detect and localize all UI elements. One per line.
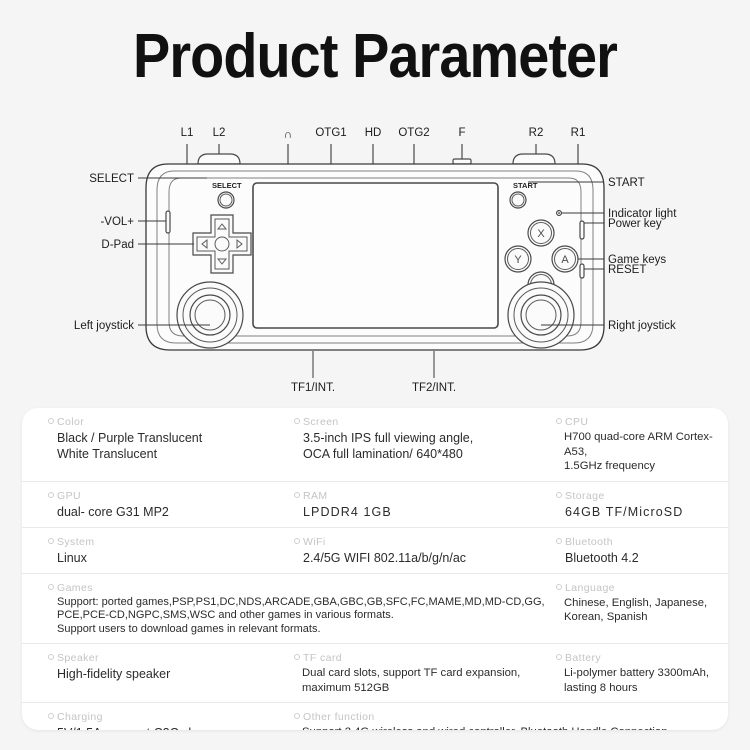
label-l1: L1 bbox=[181, 127, 194, 139]
spec-label: Screen bbox=[294, 415, 552, 430]
spec-cell-speaker: Speaker High-fidelity speaker bbox=[22, 651, 290, 695]
label-right-joystick: Right joystick bbox=[608, 320, 676, 332]
spec-label-text: Other function bbox=[303, 711, 375, 723]
spec-label-text: Screen bbox=[303, 416, 339, 428]
bullet-icon bbox=[556, 492, 562, 498]
spec-value: 5V/1.5A, support C2C charger bbox=[48, 725, 290, 730]
device-button-y: Y bbox=[514, 254, 522, 266]
spec-cell-games: Games Support: ported games,PSP,PS1,DC,N… bbox=[22, 581, 552, 637]
label-volume: -VOL+ bbox=[100, 216, 134, 228]
bullet-icon bbox=[48, 418, 54, 424]
bullet-icon bbox=[294, 713, 300, 719]
bullet-icon bbox=[556, 538, 562, 544]
spec-label: TF card bbox=[294, 651, 552, 666]
spec-cell-wifi: WiFi 2.4/5G WIFI 802.11a/b/g/n/ac bbox=[290, 535, 552, 566]
spec-label: Speaker bbox=[48, 651, 290, 666]
page-title: Product Parameter bbox=[38, 26, 713, 88]
bullet-icon bbox=[48, 492, 54, 498]
bullet-icon bbox=[48, 654, 54, 660]
bullet-icon bbox=[48, 713, 54, 719]
bullet-icon bbox=[48, 584, 54, 590]
spec-cell-charging: Charging 5V/1.5A, support C2C charger bbox=[22, 710, 290, 730]
spec-value: Linux bbox=[48, 550, 290, 566]
spec-cell-cpu: CPU H700 quad-core ARM Cortex-A53, 1.5GH… bbox=[552, 415, 728, 474]
spec-value: LPDDR4 1GB bbox=[294, 504, 552, 520]
table-row: Games Support: ported games,PSP,PS1,DC,N… bbox=[22, 574, 728, 645]
spec-label: Other function bbox=[294, 710, 728, 725]
spec-label: Games bbox=[48, 581, 552, 596]
spec-label: Storage bbox=[556, 489, 728, 504]
spec-cell-color: Color Black / Purple Translucent White T… bbox=[22, 415, 290, 474]
spec-cell-ram: RAM LPDDR4 1GB bbox=[290, 489, 552, 520]
bullet-icon bbox=[294, 654, 300, 660]
bullet-icon bbox=[294, 418, 300, 424]
bullet-icon bbox=[294, 492, 300, 498]
device-button-x: X bbox=[537, 228, 545, 240]
spec-label: CPU bbox=[556, 415, 728, 430]
spec-cell-gpu: GPU dual- core G31 MP2 bbox=[22, 489, 290, 520]
spec-label: Charging bbox=[48, 710, 290, 725]
bullet-icon bbox=[556, 654, 562, 660]
spec-value: 64GB TF/MicroSD bbox=[556, 504, 728, 520]
device-diagram: SELECT START X Y A B L1 bbox=[0, 118, 750, 408]
table-row: System Linux WiFi 2.4/5G WIFI 802.11a/b/… bbox=[22, 528, 728, 574]
bullet-icon bbox=[294, 538, 300, 544]
label-l2: L2 bbox=[213, 127, 226, 139]
spec-value: Chinese, English, Japanese, Korean, Span… bbox=[556, 596, 728, 625]
spec-label-text: Games bbox=[57, 582, 93, 594]
label-r2: R2 bbox=[529, 127, 544, 139]
spec-label-text: Charging bbox=[57, 711, 103, 723]
label-power-key: Power key bbox=[608, 218, 662, 230]
spec-label-text: Language bbox=[565, 582, 615, 594]
spec-label: Battery bbox=[556, 651, 728, 666]
spec-cell-language: Language Chinese, English, Japanese, Kor… bbox=[552, 581, 728, 637]
headphone-jack-icon: ∩ bbox=[284, 129, 292, 141]
label-dpad: D-Pad bbox=[101, 239, 134, 251]
spec-value: Dual card slots, support TF card expansi… bbox=[294, 666, 552, 695]
label-tf1: TF1/INT. bbox=[291, 382, 335, 394]
table-row: Charging 5V/1.5A, support C2C charger Ot… bbox=[22, 703, 728, 730]
table-row: GPU dual- core G31 MP2 RAM LPDDR4 1GB St… bbox=[22, 482, 728, 528]
spec-label-text: Battery bbox=[565, 652, 601, 664]
spec-value: Support 2.4G wireless and wired controll… bbox=[294, 725, 728, 730]
label-reset: RESET bbox=[608, 264, 646, 276]
table-row: Speaker High-fidelity speaker TF card Du… bbox=[22, 644, 728, 703]
spec-label: Bluetooth bbox=[556, 535, 728, 550]
spec-value: High-fidelity speaker bbox=[48, 666, 290, 682]
device-select-marking: SELECT bbox=[212, 181, 242, 190]
label-r1: R1 bbox=[571, 127, 586, 139]
device-button-a: A bbox=[561, 254, 569, 266]
label-start: START bbox=[608, 177, 645, 189]
spec-cell-tf-card: TF card Dual card slots, support TF card… bbox=[290, 651, 552, 695]
spec-cell-storage: Storage 64GB TF/MicroSD bbox=[552, 489, 728, 520]
spec-label-text: Bluetooth bbox=[565, 536, 613, 548]
label-hd: HD bbox=[365, 127, 382, 139]
spec-value: Bluetooth 4.2 bbox=[556, 550, 728, 566]
spec-label-text: WiFi bbox=[303, 536, 326, 548]
spec-cell-screen: Screen 3.5-inch IPS full viewing angle, … bbox=[290, 415, 552, 474]
bullet-icon bbox=[556, 584, 562, 590]
spec-value: H700 quad-core ARM Cortex-A53, 1.5GHz fr… bbox=[556, 430, 728, 474]
spec-value: Li-polymer battery 3300mAh, lasting 8 ho… bbox=[556, 666, 728, 695]
spec-label: Color bbox=[48, 415, 290, 430]
spec-label: Language bbox=[556, 581, 728, 596]
spec-cell-other-function: Other function Support 2.4G wireless and… bbox=[290, 710, 728, 730]
spec-table: Color Black / Purple Translucent White T… bbox=[22, 408, 728, 730]
spec-value: dual- core G31 MP2 bbox=[48, 504, 290, 520]
spec-label-text: Color bbox=[57, 416, 84, 428]
spec-value: 3.5-inch IPS full viewing angle, OCA ful… bbox=[294, 430, 552, 462]
spec-label: WiFi bbox=[294, 535, 552, 550]
spec-label: System bbox=[48, 535, 290, 550]
label-left-joystick: Left joystick bbox=[74, 320, 134, 332]
spec-label: GPU bbox=[48, 489, 290, 504]
bullet-icon bbox=[556, 418, 562, 424]
spec-value: Support: ported games,PSP,PS1,DC,NDS,ARC… bbox=[48, 596, 552, 637]
bullet-icon bbox=[48, 538, 54, 544]
label-select: SELECT bbox=[89, 173, 134, 185]
label-f: F bbox=[458, 127, 465, 139]
label-otg2: OTG2 bbox=[398, 127, 429, 139]
label-otg1: OTG1 bbox=[315, 127, 346, 139]
spec-label-text: CPU bbox=[565, 416, 588, 428]
spec-label: RAM bbox=[294, 489, 552, 504]
spec-label-text: GPU bbox=[57, 490, 81, 502]
spec-cell-battery: Battery Li-polymer battery 3300mAh, last… bbox=[552, 651, 728, 695]
spec-label-text: System bbox=[57, 536, 94, 548]
spec-value: Black / Purple Translucent White Translu… bbox=[48, 430, 290, 462]
spec-label-text: RAM bbox=[303, 490, 328, 502]
spec-label-text: Speaker bbox=[57, 652, 99, 664]
spec-cell-bluetooth: Bluetooth Bluetooth 4.2 bbox=[552, 535, 728, 566]
table-row: Color Black / Purple Translucent White T… bbox=[22, 408, 728, 482]
spec-label-text: TF card bbox=[303, 652, 342, 664]
label-tf2: TF2/INT. bbox=[412, 382, 456, 394]
spec-cell-system: System Linux bbox=[22, 535, 290, 566]
spec-label-text: Storage bbox=[565, 490, 605, 502]
spec-value: 2.4/5G WIFI 802.11a/b/g/n/ac bbox=[294, 550, 552, 566]
